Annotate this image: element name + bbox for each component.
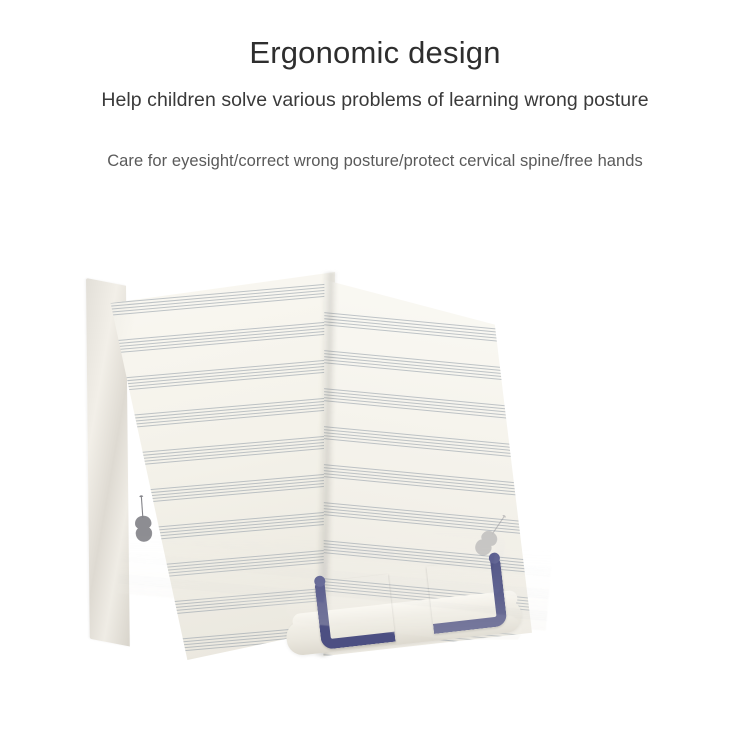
- page-title: Ergonomic design: [0, 33, 750, 73]
- reflection-clip-right: [427, 530, 506, 594]
- product-photo: [0, 210, 750, 750]
- banner-feature-list: Care for eyesight/correct wrong posture/…: [0, 148, 750, 174]
- banner-subtitle: Help children solve various problems of …: [0, 86, 750, 114]
- mirror-reflection: [0, 530, 750, 640]
- reflection-clip-left: [315, 541, 394, 610]
- product-banner: Ergonomic design Help children solve var…: [0, 0, 750, 750]
